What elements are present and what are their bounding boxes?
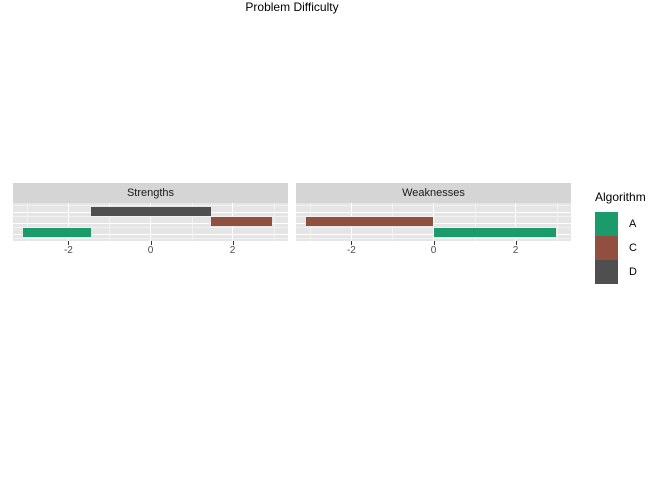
- bar-c: [211, 217, 271, 226]
- gridline-minor-vertical: [557, 203, 558, 241]
- x-axis-tick-mark: [68, 241, 69, 245]
- x-axis-tick-label: -2: [64, 246, 73, 256]
- x-axis-tick-mark: [516, 241, 517, 245]
- legend-label-c: C: [629, 243, 637, 254]
- x-axis-strengths: -202: [13, 241, 288, 245]
- x-axis-title-wrapper: Problem Difficulty: [13, 0, 571, 20]
- x-axis-tick-mark: [351, 241, 352, 245]
- x-axis-tick-mark: [434, 241, 435, 245]
- legend-label-d: D: [629, 267, 637, 278]
- x-axis-tick-mark: [151, 241, 152, 245]
- legend-item-d[interactable]: D: [595, 260, 646, 284]
- legend-item-a[interactable]: A: [595, 212, 646, 236]
- x-axis-title: Problem Difficulty: [245, 0, 338, 14]
- x-axis-weaknesses: -202: [296, 241, 571, 245]
- x-axis-tick-label: 0: [148, 246, 154, 256]
- plot-panel-weaknesses: [296, 203, 571, 241]
- chart-container: Strengths Weaknesses -202 -202 Problem D…: [0, 0, 672, 480]
- legend-items: ACD: [595, 212, 646, 284]
- legend-swatch-a: [595, 212, 618, 236]
- bar-a: [434, 228, 556, 237]
- legend-item-c[interactable]: C: [595, 236, 646, 260]
- bar-a: [23, 228, 91, 237]
- legend-label-a: A: [629, 219, 636, 230]
- x-axis-tick-mark: [233, 241, 234, 245]
- bar-d: [91, 207, 211, 216]
- legend-swatch-c: [595, 236, 618, 260]
- x-axis-tick-label: 2: [513, 246, 519, 256]
- x-axis-tick-label: -2: [347, 246, 356, 256]
- gridline-minor-horizontal: [296, 238, 571, 239]
- x-axis-tick-label: 2: [230, 246, 236, 256]
- legend-title: Algorithm: [595, 190, 646, 204]
- gridline-minor-horizontal: [13, 238, 288, 239]
- bar-c: [306, 217, 433, 226]
- gridline-minor-horizontal: [296, 205, 571, 206]
- gridline-major-horizontal: [296, 212, 571, 213]
- legend-swatch-d: [595, 260, 618, 284]
- facet-strip-weaknesses: Weaknesses: [296, 183, 571, 203]
- facet-strip-label-strengths: Strengths: [127, 188, 174, 199]
- facet-strip-label-weaknesses: Weaknesses: [402, 188, 465, 199]
- x-axis-tick-label: 0: [431, 246, 437, 256]
- legend: Algorithm ACD: [595, 190, 646, 284]
- plot-panel-strengths: [13, 203, 288, 241]
- gridline-minor-vertical: [274, 203, 275, 241]
- facet-strip-strengths: Strengths: [13, 183, 288, 203]
